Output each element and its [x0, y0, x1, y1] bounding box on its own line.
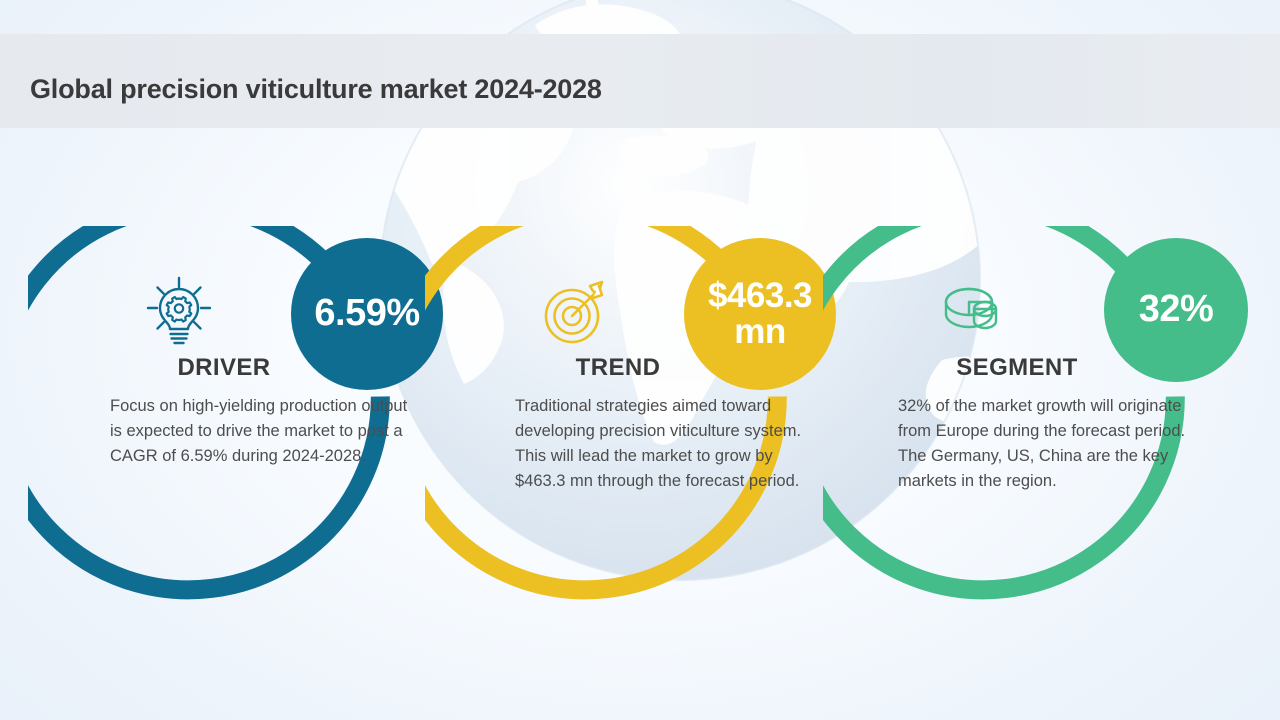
card-body-driver: Focus on high-yielding production output… [110, 394, 410, 469]
card-body-segment: 32% of the market growth will originate … [898, 394, 1198, 494]
badge-segment-share: 32% [1104, 238, 1248, 382]
lightbulb-gear-icon [143, 276, 215, 348]
badge-trend-value: $463.3 mn [684, 238, 836, 390]
badge-trend-amount: $463.3 mn [684, 278, 836, 351]
badge-segment-value: 32% [1139, 290, 1214, 330]
target-arrow-icon [540, 276, 612, 348]
badge-driver-value: 6.59% [314, 294, 419, 334]
card-body-trend: Traditional strategies aimed toward deve… [515, 394, 815, 494]
page-title: Global precision viticulture market 2024… [30, 74, 602, 105]
badge-driver-cagr: 6.59% [291, 238, 443, 390]
infographic-canvas: Global precision viticulture market 2024… [0, 0, 1280, 720]
pie-chart-3d-icon [938, 276, 1010, 348]
